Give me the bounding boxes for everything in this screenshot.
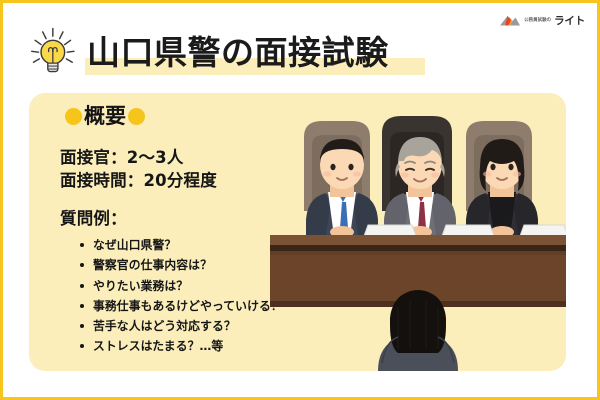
info-line-interviewers: 面接官：2〜3人 bbox=[60, 146, 217, 169]
filled-circle-icon-right bbox=[128, 108, 145, 125]
list-item: やりたい業務は？ bbox=[79, 276, 283, 296]
list-item: ストレスはたまる？…等 bbox=[79, 336, 283, 356]
page-header: 山口県警の面接試験 bbox=[25, 25, 393, 81]
list-item: 事務仕事もあるけどやっていける？ bbox=[79, 296, 283, 316]
job-interview-panel-illustration bbox=[270, 93, 566, 371]
brand-name-text: ライト bbox=[554, 13, 585, 28]
list-item: 警察官の仕事内容は？ bbox=[79, 255, 283, 275]
list-item: なぜ山口県警？ bbox=[79, 235, 283, 255]
filled-circle-icon-left bbox=[65, 108, 82, 125]
questions-label: 質問例： bbox=[60, 205, 127, 229]
overview-card: 概要 面接官：2〜3人 面接時間：20分程度 質問例： なぜ山口県警？ 警察官の… bbox=[29, 93, 566, 371]
interview-scene-svg bbox=[270, 93, 566, 371]
question-list: なぜ山口県警？ 警察官の仕事内容は？ やりたい業務は？ 事務仕事もあるけどやって… bbox=[79, 235, 283, 357]
info-line-duration: 面接時間：20分程度 bbox=[60, 169, 217, 192]
section-heading: 概要 bbox=[65, 106, 145, 127]
page-title-text: 山口県警の面接試験 bbox=[87, 33, 389, 72]
brand-logo[interactable]: 公務員試験の ライト bbox=[499, 12, 585, 28]
section-heading-label: 概要 bbox=[83, 106, 127, 127]
lightbulb-icon bbox=[25, 26, 79, 80]
slide-canvas: 公務員試験の ライト 山口県 bbox=[0, 0, 600, 400]
list-item: 苦手な人はどう対応する？ bbox=[79, 316, 283, 336]
nameplate-group bbox=[364, 225, 566, 236]
interview-info-block: 面接官：2〜3人 面接時間：20分程度 bbox=[60, 146, 217, 193]
mountain-peak-logo-icon bbox=[499, 13, 521, 27]
page-title: 山口県警の面接試験 bbox=[85, 36, 393, 71]
brand-sub-text: 公務員試験の bbox=[524, 17, 551, 23]
